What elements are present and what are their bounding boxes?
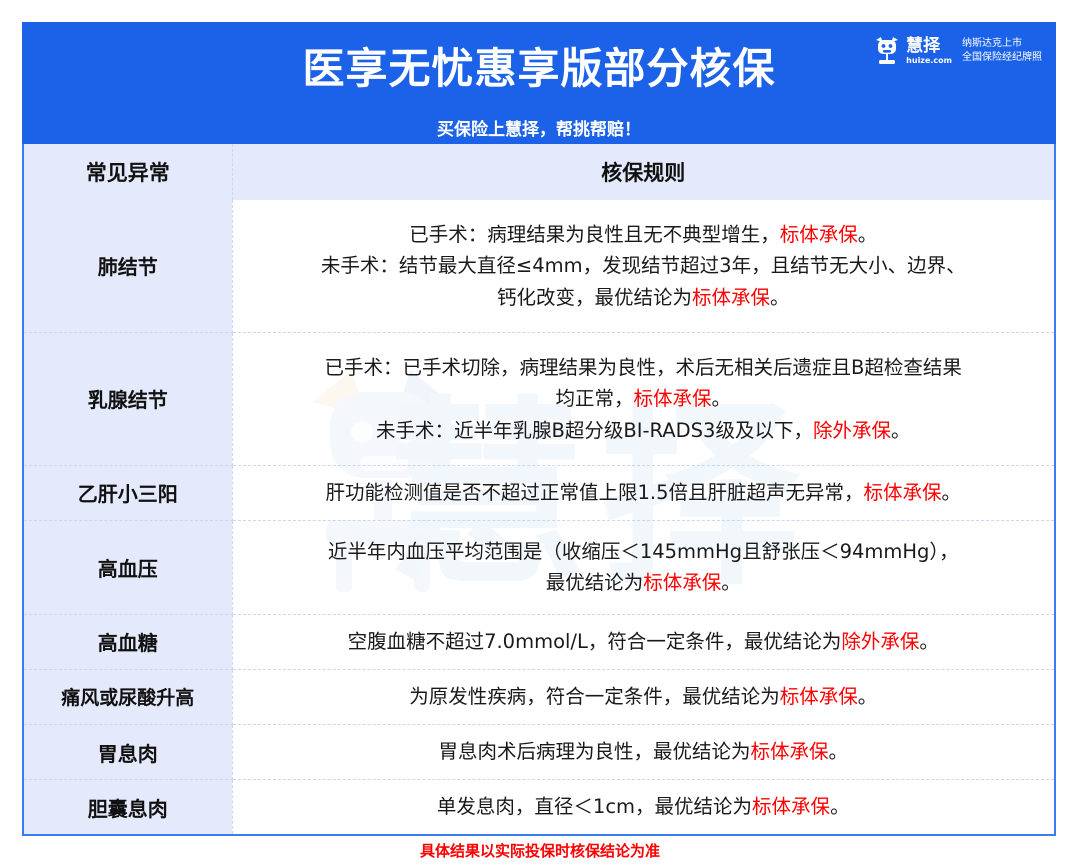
row-category-cell: 高血压: [24, 520, 232, 614]
table-row: 胆囊息肉单发息肉，直径＜1cm，最优结论为标体承保。: [24, 780, 1054, 834]
rule-highlight: 标体承保: [752, 795, 830, 818]
rule-text: 空腹血糖不超过7.0mmol/L，符合一定条件，最优结论为: [348, 630, 842, 653]
footnote-disclaimer: 具体结果以实际投保时核保结论为准: [0, 840, 1080, 861]
table-row: 高血糖空腹血糖不超过7.0mmol/L，符合一定条件，最优结论为除外承保。: [24, 614, 1054, 669]
rule-highlight: 标体承保: [780, 685, 858, 708]
row-rule-cell: 近半年内血压平均范围是（收缩压＜145mmHg且舒张压＜94mmHg），最优结论…: [232, 520, 1054, 614]
rule-text: 。: [830, 795, 850, 818]
rule-text: 为原发性疾病，符合一定条件，最优结论为: [409, 685, 780, 708]
row-rule-cell: 已手术：病理结果为良性且无不典型增生，标体承保。未手术：结节最大直径≤4mm，发…: [232, 200, 1054, 332]
rule-text: 最优结论为: [546, 571, 644, 594]
table-header-row: 常见异常 核保规则: [24, 144, 1054, 200]
rule-highlight: 除外承保: [813, 419, 891, 442]
rule-line: 单发息肉，直径＜1cm，最优结论为标体承保。: [241, 791, 1047, 823]
brand-logo-lockup: 慧择 huize.com 纳斯达克上市 全国保险经纪牌照: [874, 36, 1042, 66]
brand-tagline: 纳斯达克上市 全国保险经纪牌照: [962, 39, 1042, 63]
row-category-cell: 胆囊息肉: [24, 780, 232, 834]
rule-text: 未手术：近半年乳腺B超分级BI-RADS3级及以下，: [376, 419, 813, 442]
row-category-cell: 胃息肉: [24, 725, 232, 780]
rule-text: 均正常，: [555, 387, 633, 410]
rule-text: 。: [942, 481, 962, 504]
table-row: 痛风或尿酸升高为原发性疾病，符合一定条件，最优结论为标体承保。: [24, 669, 1054, 724]
rule-highlight: 标体承保: [692, 286, 770, 309]
rule-text: 。: [829, 740, 849, 763]
rule-text: 。: [891, 419, 911, 442]
row-category-cell: 高血糖: [24, 614, 232, 669]
huize-cow-logo-icon: [874, 36, 900, 66]
rule-text: 。: [721, 571, 741, 594]
table-row: 乙肝小三阳肝功能检测值是否不超过正常值上限1.5倍且肝脏超声无异常，标体承保。: [24, 465, 1054, 520]
rule-highlight: 标体承保: [633, 387, 711, 410]
table-body: 肺结节已手术：病理结果为良性且无不典型增生，标体承保。未手术：结节最大直径≤4m…: [24, 200, 1054, 834]
row-category-cell: 痛风或尿酸升高: [24, 669, 232, 724]
rule-text: 已手术：已手术切除，病理结果为良性，术后无相关后遗症且B超检查结果: [325, 356, 962, 379]
page-subtitle: 买保险上慧择，帮挑帮赔！: [22, 122, 1056, 139]
rule-line: 未手术：近半年乳腺B超分级BI-RADS3级及以下，除外承保。: [241, 415, 1047, 447]
rule-line: 最优结论为标体承保。: [241, 567, 1047, 599]
rule-line: 已手术：病理结果为良性且无不典型增生，标体承保。: [241, 219, 1047, 251]
row-category-cell: 乙肝小三阳: [24, 465, 232, 520]
row-rule-cell: 胃息肉术后病理为良性，最优结论为标体承保。: [232, 725, 1054, 780]
rule-text: 已手术：病理结果为良性且无不典型增生，: [409, 223, 780, 246]
table-row: 肺结节已手术：病理结果为良性且无不典型增生，标体承保。未手术：结节最大直径≤4m…: [24, 200, 1054, 332]
rule-line: 胃息肉术后病理为良性，最优结论为标体承保。: [241, 736, 1047, 768]
rule-text: 。: [712, 387, 732, 410]
table-row: 胃息肉胃息肉术后病理为良性，最优结论为标体承保。: [24, 725, 1054, 780]
column-header-rule: 核保规则: [232, 144, 1054, 200]
rule-text: 。: [919, 630, 939, 653]
column-header-category: 常见异常: [24, 144, 232, 200]
rule-text: 钙化改变，最优结论为: [497, 286, 692, 309]
rule-text: 。: [858, 223, 878, 246]
row-category-cell: 肺结节: [24, 200, 232, 332]
rule-highlight: 标体承保: [750, 740, 828, 763]
rule-highlight: 标体承保: [863, 481, 941, 504]
brand-url: huize.com: [906, 57, 952, 65]
rule-line: 肝功能检测值是否不超过正常值上限1.5倍且肝脏超声无异常，标体承保。: [241, 477, 1047, 509]
rule-text: 胃息肉术后病理为良性，最优结论为: [438, 740, 750, 763]
row-rule-cell: 为原发性疾病，符合一定条件，最优结论为标体承保。: [232, 669, 1054, 724]
table-row: 乳腺结节已手术：已手术切除，病理结果为良性，术后无相关后遗症且B超检查结果均正常…: [24, 332, 1054, 465]
row-rule-cell: 肝功能检测值是否不超过正常值上限1.5倍且肝脏超声无异常，标体承保。: [232, 465, 1054, 520]
brand-tagline-line2: 全国保险经纪牌照: [962, 53, 1042, 64]
rule-text: 未手术：结节最大直径≤4mm，发现结节超过3年，且结节无大小、边界、: [321, 254, 966, 277]
row-category-cell: 乳腺结节: [24, 332, 232, 465]
rule-line: 已手术：已手术切除，病理结果为良性，术后无相关后遗症且B超检查结果: [241, 352, 1047, 384]
row-rule-cell: 单发息肉，直径＜1cm，最优结论为标体承保。: [232, 780, 1054, 834]
rule-highlight: 标体承保: [780, 223, 858, 246]
brand-tagline-line1: 纳斯达克上市: [962, 39, 1042, 50]
rule-text: 肝功能检测值是否不超过正常值上限1.5倍且肝脏超声无异常，: [325, 481, 863, 504]
rule-line: 未手术：结节最大直径≤4mm，发现结节超过3年，且结节无大小、边界、: [241, 250, 1047, 282]
row-rule-cell: 空腹血糖不超过7.0mmol/L，符合一定条件，最优结论为除外承保。: [232, 614, 1054, 669]
rule-line: 均正常，标体承保。: [241, 383, 1047, 415]
rule-line: 为原发性疾病，符合一定条件，最优结论为标体承保。: [241, 681, 1047, 713]
brand-name-cn: 慧择: [906, 38, 952, 55]
row-rule-cell: 已手术：已手术切除，病理结果为良性，术后无相关后遗症且B超检查结果均正常，标体承…: [232, 332, 1054, 465]
rule-text: 。: [858, 685, 878, 708]
rule-highlight: 除外承保: [841, 630, 919, 653]
rule-line: 空腹血糖不超过7.0mmol/L，符合一定条件，最优结论为除外承保。: [241, 626, 1047, 658]
rule-line: 钙化改变，最优结论为标体承保。: [241, 282, 1047, 314]
underwriting-rules-table: 常见异常 核保规则 肺结节已手术：病理结果为良性且无不典型增生，标体承保。未手术…: [22, 144, 1056, 836]
rule-line: 近半年内血压平均范围是（收缩压＜145mmHg且舒张压＜94mmHg），: [241, 536, 1047, 568]
rule-text: 近半年内血压平均范围是（收缩压＜145mmHg且舒张压＜94mmHg），: [328, 540, 959, 563]
table-row: 高血压近半年内血压平均范围是（收缩压＜145mmHg且舒张压＜94mmHg），最…: [24, 520, 1054, 614]
rule-text: 单发息肉，直径＜1cm，最优结论为: [437, 795, 752, 818]
header-banner: 医享无忧惠享版部分核保 买保险上慧择，帮挑帮赔！ 慧择 huize.com 纳斯…: [22, 22, 1056, 144]
brand-wordmark: 慧择 huize.com: [906, 38, 952, 65]
rule-highlight: 标体承保: [643, 571, 721, 594]
rule-text: 。: [770, 286, 790, 309]
